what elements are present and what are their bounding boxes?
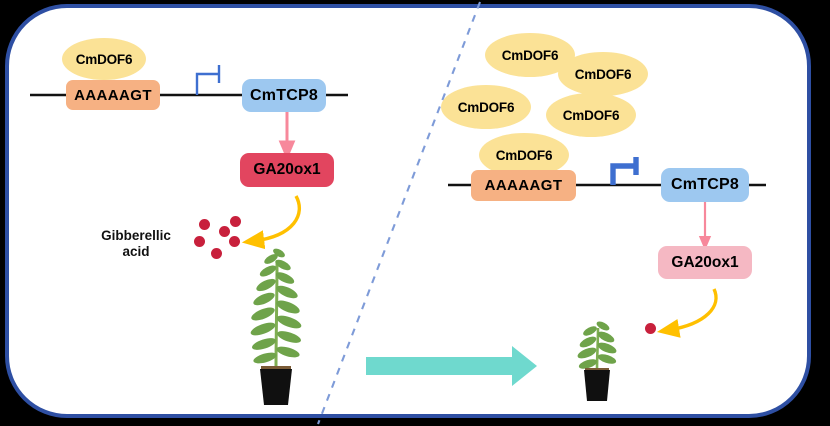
left-ga-production-arrow — [254, 196, 299, 241]
figure-canvas: CmDOF6 AAAAAGT CmTCP8 GA20ox1 Gibberelli… — [0, 0, 830, 426]
ga-dot — [199, 219, 210, 230]
left-repression-bar-icon — [197, 65, 219, 95]
short-plant — [576, 320, 618, 401]
right-promoter-motif-box[interactable]: AAAAAGT — [471, 170, 576, 201]
gibberellic-acid-label-line2: acid — [88, 244, 184, 260]
gibberellic-acid-label: Gibberellic acid — [88, 228, 184, 260]
gibberellic-acid-label-line1: Gibberellic — [88, 228, 184, 244]
ga-dot — [645, 323, 656, 334]
right-cmtcp8-box[interactable]: CmTCP8 — [661, 168, 749, 202]
right-cmdof6-ellipse-4[interactable]: CmDOF6 — [546, 93, 636, 137]
ga-dot — [219, 226, 230, 237]
left-promoter-motif-box[interactable]: AAAAAGT — [66, 80, 160, 110]
right-repression-bar-icon — [613, 157, 636, 185]
left-cmtcp8-box[interactable]: CmTCP8 — [242, 79, 326, 112]
left-ga20ox1-box[interactable]: GA20ox1 — [240, 153, 334, 187]
ga-dot — [194, 236, 205, 247]
ga-dot — [229, 236, 240, 247]
ga-dot — [230, 216, 241, 227]
right-cmdof6-ellipse-3[interactable]: CmDOF6 — [441, 85, 531, 129]
left-cmdof6-ellipse[interactable]: CmDOF6 — [62, 38, 146, 80]
ga-dot — [211, 248, 222, 259]
tall-plant — [249, 247, 303, 405]
right-cmdof6-ellipse-2[interactable]: CmDOF6 — [558, 52, 648, 96]
right-ga-production-arrow — [669, 289, 716, 330]
phenotype-transition-arrow — [366, 346, 537, 386]
right-ga20ox1-box[interactable]: GA20ox1 — [658, 246, 752, 279]
